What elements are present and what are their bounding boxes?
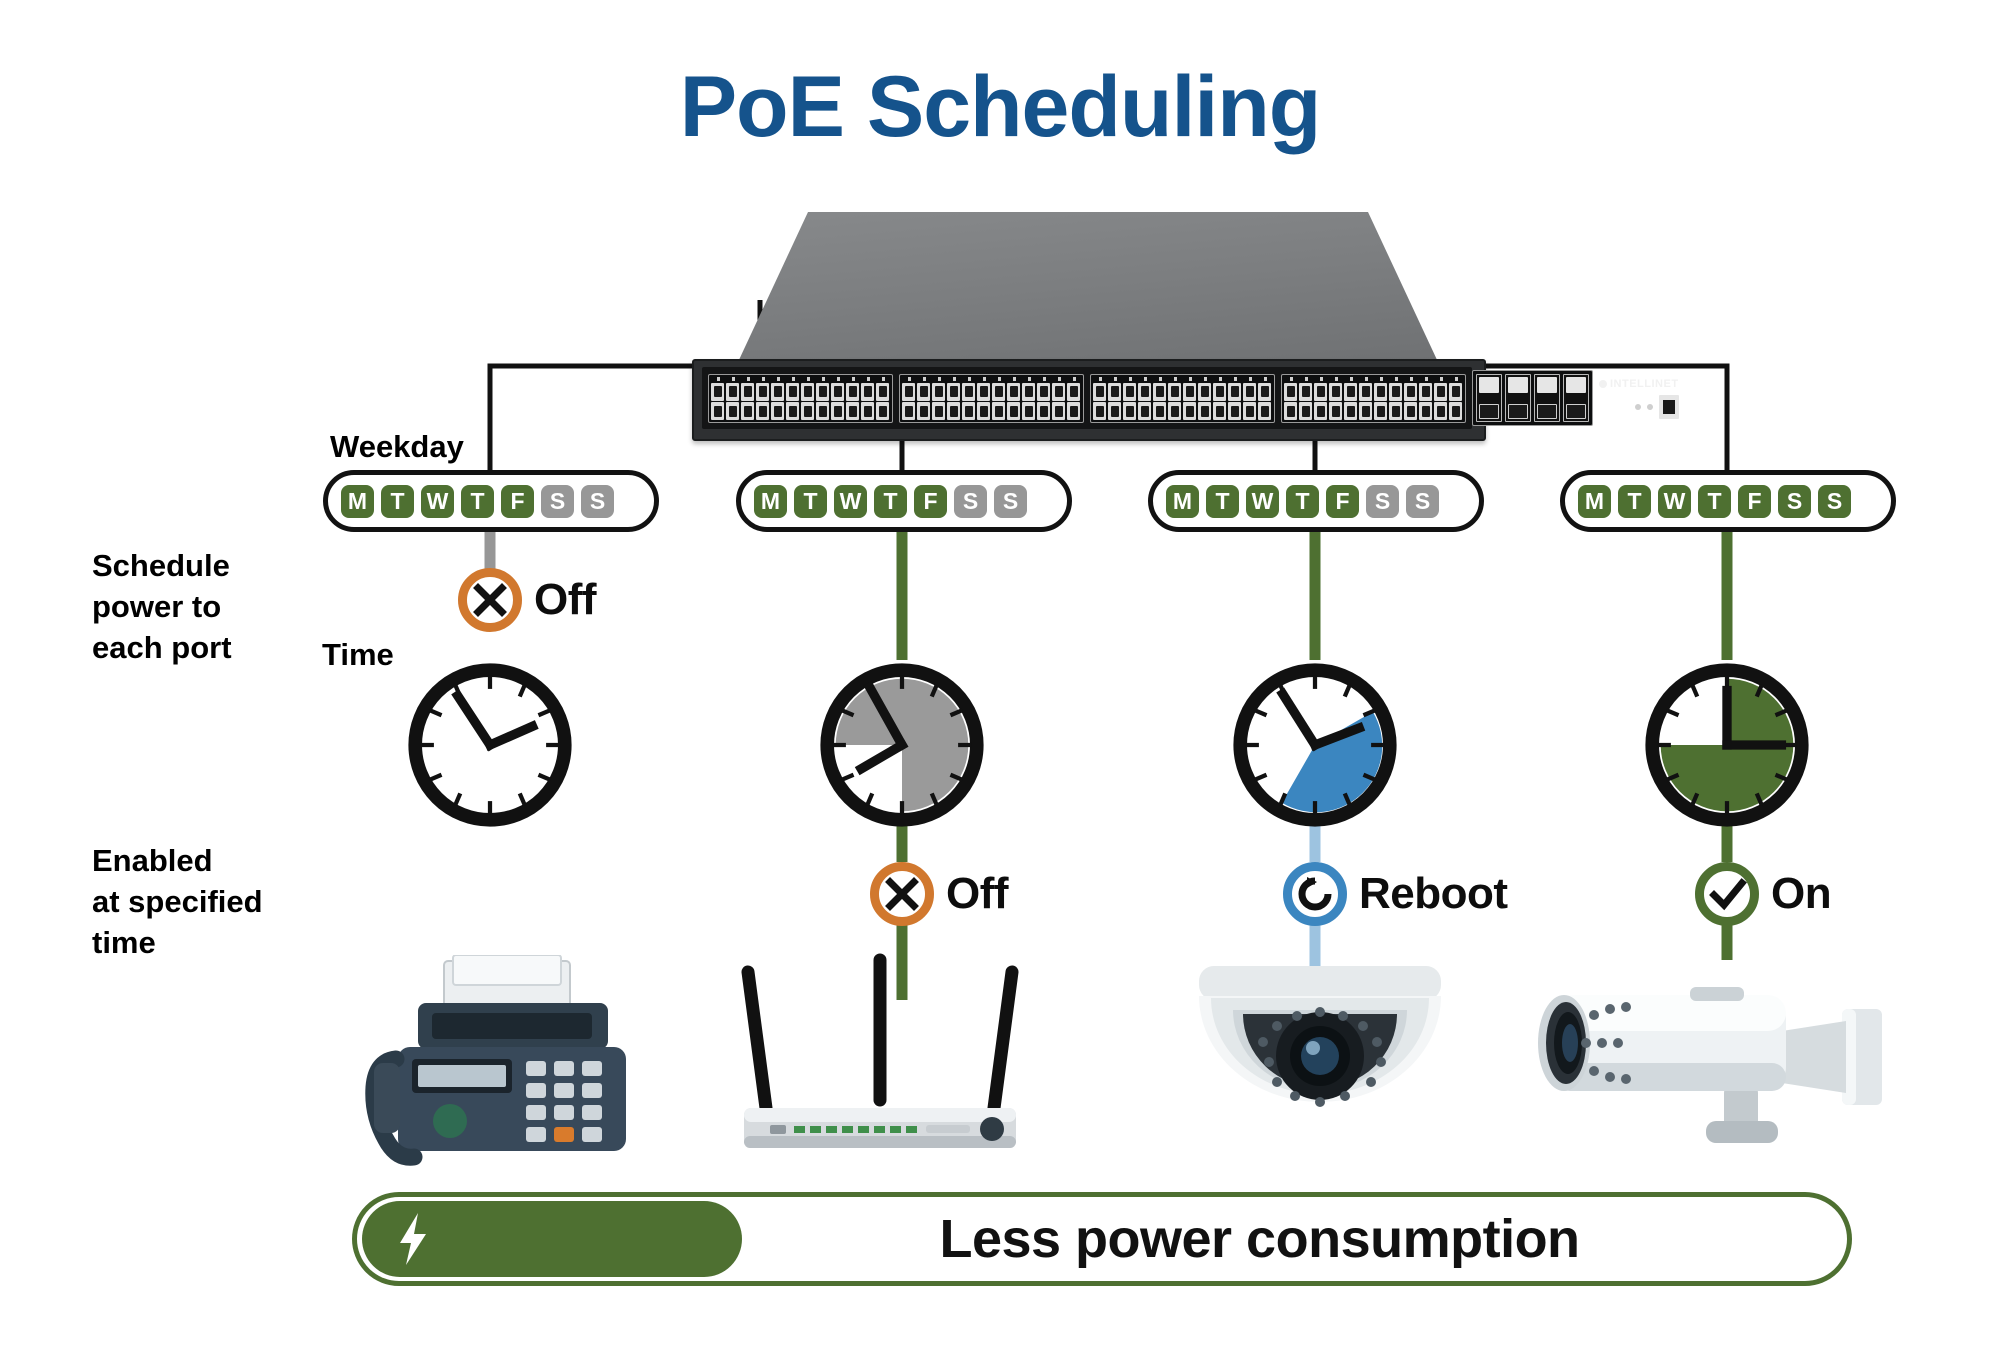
brand-dot-icon	[1599, 380, 1607, 388]
day-toggle-tuesday[interactable]: T	[1618, 485, 1651, 518]
status-label: Reboot	[1359, 872, 1508, 916]
port-bank	[1090, 374, 1275, 423]
banner-label: Less power consumption	[742, 1208, 1847, 1270]
status-badge-fax: Off	[458, 568, 596, 632]
port-bank	[708, 374, 893, 423]
weekday-selector-fax[interactable]: M T W T F S S	[323, 470, 659, 532]
x-icon	[458, 568, 522, 632]
day-toggle-sunday[interactable]: S	[994, 485, 1027, 518]
day-toggle-tuesday[interactable]: T	[794, 485, 827, 518]
day-toggle-monday[interactable]: M	[754, 485, 787, 518]
switch-brand-logo: INTELLINET	[1599, 378, 1679, 390]
fax-machine-device	[358, 955, 648, 1175]
port-bank	[899, 374, 1084, 423]
day-toggle-sunday[interactable]: S	[1818, 485, 1851, 518]
refresh-icon	[1283, 862, 1347, 926]
day-toggle-sunday[interactable]: S	[1406, 485, 1439, 518]
poe-scheduling-diagram: PoE Scheduling	[0, 0, 2000, 1362]
power-bar-fill	[362, 1201, 742, 1277]
dome-camera-device	[1185, 950, 1455, 1150]
day-toggle-wednesday[interactable]: W	[421, 485, 454, 518]
day-toggle-friday[interactable]: F	[1326, 485, 1359, 518]
poe-network-switch: INTELLINET	[692, 212, 1482, 444]
clock-bullet-camera	[1642, 660, 1812, 830]
day-toggle-monday[interactable]: M	[1578, 485, 1611, 518]
day-toggle-thursday[interactable]: T	[1286, 485, 1319, 518]
status-badge-dome-camera: Reboot	[1283, 862, 1508, 926]
day-toggle-thursday[interactable]: T	[1698, 485, 1731, 518]
day-toggle-friday[interactable]: F	[914, 485, 947, 518]
day-toggle-monday[interactable]: M	[341, 485, 374, 518]
lightning-bolt-icon	[392, 1211, 436, 1267]
day-toggle-saturday[interactable]: S	[541, 485, 574, 518]
day-toggle-wednesday[interactable]: W	[1658, 485, 1691, 518]
day-toggle-thursday[interactable]: T	[874, 485, 907, 518]
day-toggle-wednesday[interactable]: W	[1246, 485, 1279, 518]
switch-chassis-top	[738, 212, 1438, 362]
weekday-selector-dome-camera[interactable]: M T W T F S S	[1148, 470, 1484, 532]
switch-brand-label: INTELLINET	[1610, 378, 1679, 390]
day-toggle-tuesday[interactable]: T	[381, 485, 414, 518]
switch-front-panel: INTELLINET	[692, 359, 1486, 441]
day-toggle-wednesday[interactable]: W	[834, 485, 867, 518]
switch-mgmt-area	[1635, 395, 1679, 419]
status-led-icon	[1647, 404, 1653, 410]
day-toggle-saturday[interactable]: S	[1366, 485, 1399, 518]
check-icon	[1695, 862, 1759, 926]
day-toggle-saturday[interactable]: S	[1778, 485, 1811, 518]
weekday-label: Weekday	[330, 429, 464, 465]
weekday-selector-router[interactable]: M T W T F S S	[736, 470, 1072, 532]
console-port	[1659, 395, 1679, 419]
sfp-uplink-bank	[1472, 370, 1593, 426]
day-toggle-saturday[interactable]: S	[954, 485, 987, 518]
wireless-router-device	[730, 930, 1030, 1170]
day-toggle-friday[interactable]: F	[1738, 485, 1771, 518]
status-led-icon	[1635, 404, 1641, 410]
weekday-selector-bullet-camera[interactable]: M T W T F S S	[1560, 470, 1896, 532]
bullet-camera-device	[1510, 935, 1890, 1165]
status-label: Off	[534, 578, 596, 622]
less-power-banner: Less power consumption	[352, 1192, 1852, 1286]
day-toggle-tuesday[interactable]: T	[1206, 485, 1239, 518]
clock-fax	[405, 660, 575, 830]
day-toggle-friday[interactable]: F	[501, 485, 534, 518]
clock-dome-camera	[1230, 660, 1400, 830]
status-badge-router: Off	[870, 862, 1008, 926]
clock-router	[817, 660, 987, 830]
status-label: Off	[946, 872, 1008, 916]
day-toggle-monday[interactable]: M	[1166, 485, 1199, 518]
port-bank	[1281, 374, 1466, 423]
day-toggle-sunday[interactable]: S	[581, 485, 614, 518]
status-badge-bullet-camera: On	[1695, 862, 1831, 926]
x-icon	[870, 862, 934, 926]
time-label: Time	[322, 637, 394, 673]
status-label: On	[1771, 872, 1831, 916]
schedule-power-label: Schedule power to each port	[92, 545, 332, 669]
enabled-time-label: Enabled at specified time	[92, 840, 342, 964]
day-toggle-thursday[interactable]: T	[461, 485, 494, 518]
